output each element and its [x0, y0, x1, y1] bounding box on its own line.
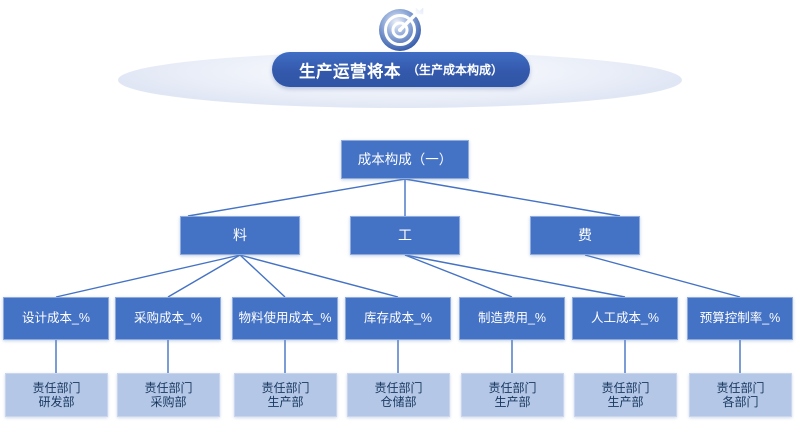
node-lvl4-dept-production-2[interactable]: 责任部门 生产部 — [461, 373, 564, 417]
node-lvl4-dept-production-1[interactable]: 责任部门 生产部 — [234, 373, 337, 417]
node-label-line1: 责任部门 — [374, 381, 422, 395]
edge-fei-to-budget — [585, 255, 740, 297]
node-label: 人工成本_% — [591, 311, 659, 326]
node-lvl3-labor-cost[interactable]: 人工成本_% — [572, 297, 678, 340]
node-label-line2: 研发部 — [32, 395, 80, 409]
node-label-line1: 责任部门 — [144, 381, 192, 395]
node-label: 成本构成（一） — [358, 152, 453, 168]
node-label: 预算控制率_% — [700, 311, 781, 326]
node-lvl2-gong[interactable]: 工 — [350, 216, 460, 255]
node-lvl4-dept-production-3[interactable]: 责任部门 生产部 — [574, 373, 677, 417]
node-label: 物料使用成本_% — [238, 311, 331, 326]
node-label-line2: 生产部 — [488, 395, 536, 409]
node-lvl3-manufacturing-expense[interactable]: 制造费用_% — [459, 297, 565, 340]
node-lvl4-dept-purchasing[interactable]: 责任部门 采购部 — [117, 373, 220, 417]
node-lvl3-material-usage-cost[interactable]: 物料使用成本_% — [232, 297, 338, 340]
edge-root-to-fei — [405, 179, 620, 216]
node-lvl3-purchase-cost[interactable]: 采购成本_% — [115, 297, 221, 340]
banner-title-main: 生产运营将本 — [299, 58, 401, 82]
node-label-line2: 生产部 — [601, 395, 649, 409]
node-label-line1: 责任部门 — [716, 381, 764, 395]
node-label-line1: 责任部门 — [261, 381, 309, 395]
node-label: 料 — [233, 227, 247, 244]
node-label: 工 — [398, 227, 412, 244]
node-lvl4-dept-rd[interactable]: 责任部门 研发部 — [5, 373, 108, 417]
node-label-line1: 责任部门 — [601, 381, 649, 395]
node-label: 采购成本_% — [134, 311, 202, 326]
node-label: 制造费用_% — [478, 311, 546, 326]
node-label-line1: 责任部门 — [488, 381, 536, 395]
edge-gong-to-manufacture — [405, 255, 512, 297]
edge-liao-to-design — [56, 255, 240, 297]
banner-title-sub: （生产成本构成） — [407, 61, 503, 78]
node-lvl2-liao[interactable]: 料 — [180, 216, 300, 255]
edge-gong-to-labor — [405, 255, 625, 297]
banner-title-pill: 生产运营将本 （生产成本构成） — [272, 52, 530, 87]
edge-liao-to-inventory — [240, 255, 398, 297]
node-lvl2-fei[interactable]: 费 — [530, 216, 640, 255]
node-label: 库存成本_% — [364, 311, 432, 326]
node-label-line2: 仓储部 — [374, 395, 422, 409]
node-lvl3-budget-control-rate[interactable]: 预算控制率_% — [687, 297, 793, 340]
diagram-canvas: 生产运营将本 （生产成本构成） 成本构成（一） 料 工 费 设计成本_% 采购成… — [0, 0, 800, 426]
edge-root-to-liao — [188, 179, 405, 216]
target-arrow-icon — [374, 2, 430, 54]
node-label-line2: 采购部 — [144, 395, 192, 409]
node-label: 费 — [578, 227, 592, 244]
node-lvl4-dept-warehouse[interactable]: 责任部门 仓储部 — [347, 373, 450, 417]
node-label-line2: 各部门 — [716, 395, 764, 409]
node-label: 设计成本_% — [22, 311, 90, 326]
node-label-line1: 责任部门 — [32, 381, 80, 395]
node-root-cost-structure[interactable]: 成本构成（一） — [341, 140, 469, 179]
edge-liao-to-purchase — [168, 255, 240, 297]
node-lvl3-design-cost[interactable]: 设计成本_% — [3, 297, 109, 340]
node-label-line2: 生产部 — [261, 395, 309, 409]
node-lvl4-dept-all[interactable]: 责任部门 各部门 — [689, 373, 792, 417]
node-lvl3-inventory-cost[interactable]: 库存成本_% — [345, 297, 451, 340]
